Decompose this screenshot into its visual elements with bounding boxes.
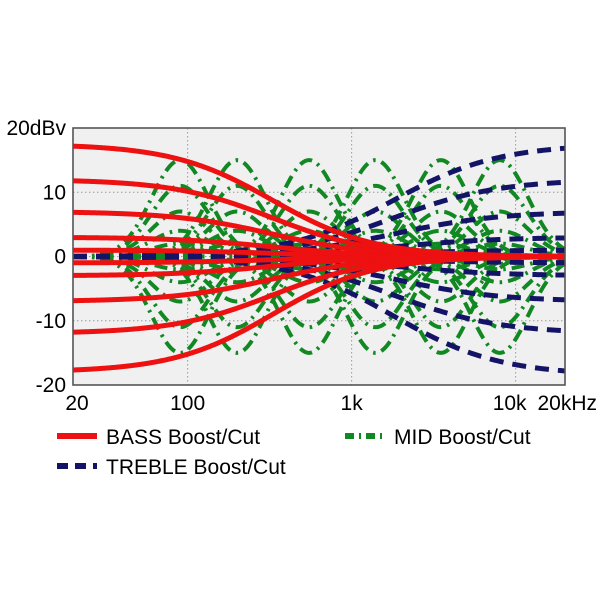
y-axis-tick-labels: 20dBv100-10-20 xyxy=(6,117,66,397)
x-tick-4: 20kHz xyxy=(537,392,597,415)
chart-legend: BASS Boost/CutMID Boost/CutTREBLE Boost/… xyxy=(57,426,531,479)
legend-label-0: BASS Boost/Cut xyxy=(106,426,260,449)
eq-response-chart: 201001k10k20kHz 20dBv100-10-20 BASS Boos… xyxy=(0,0,600,600)
legend-label-1: MID Boost/Cut xyxy=(394,426,531,449)
x-tick-1: 100 xyxy=(170,392,205,415)
y-tick-0: 20dBv xyxy=(6,117,66,140)
x-axis-tick-labels: 201001k10k20kHz xyxy=(65,392,597,415)
y-tick-2: 0 xyxy=(54,246,66,269)
y-tick-4: -20 xyxy=(36,374,66,397)
x-tick-3: 10k xyxy=(493,392,527,415)
y-tick-1: 10 xyxy=(43,181,66,204)
chart-canvas: 201001k10k20kHz 20dBv100-10-20 BASS Boos… xyxy=(0,0,600,600)
x-tick-0: 20 xyxy=(65,392,88,415)
x-tick-2: 1k xyxy=(341,392,364,415)
y-tick-3: -10 xyxy=(36,310,66,333)
legend-label-2: TREBLE Boost/Cut xyxy=(106,456,286,479)
